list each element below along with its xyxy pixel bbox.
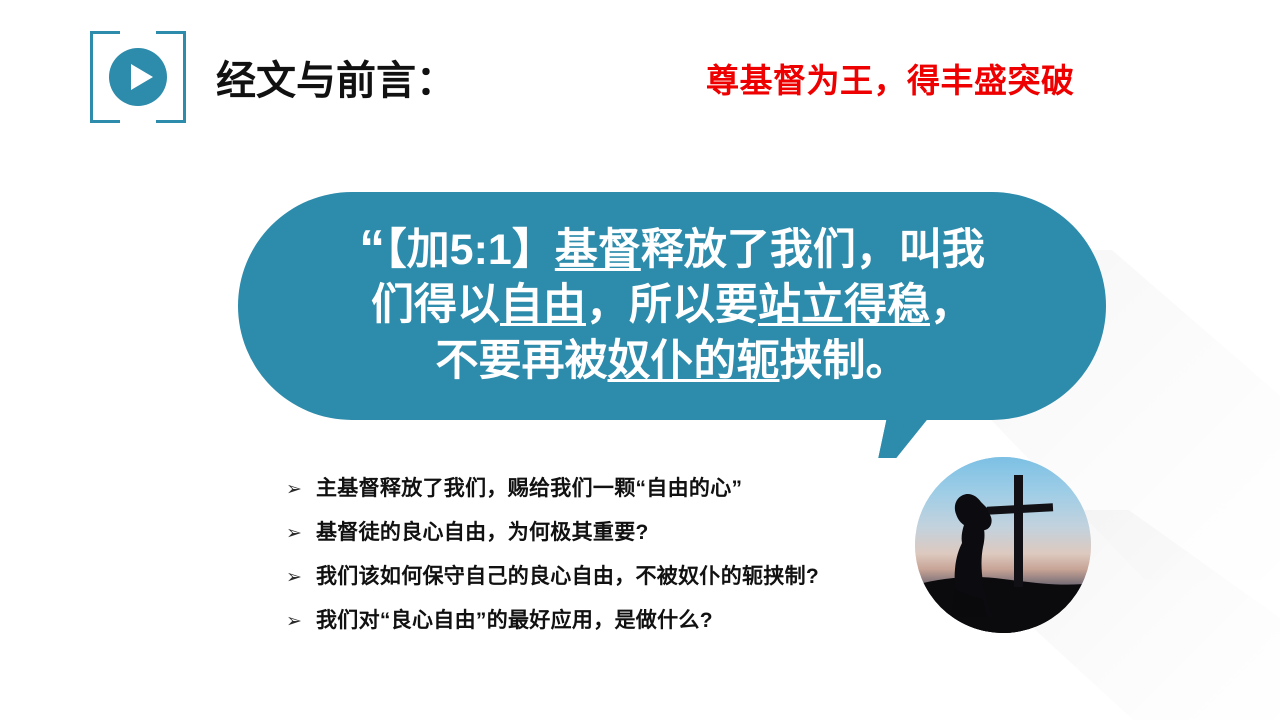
list-item: ➢ 我们该如何保守自己的良心自由，不被奴仆的轭挟制? <box>286 560 906 604</box>
list-item-label: 主基督释放了我们，赐给我们一颗“自由的心” <box>316 472 742 502</box>
bracket-frame-right-edge <box>183 31 186 123</box>
quote-line1-rest: 释放了我们，叫我 <box>641 226 985 274</box>
open-quote-icon: “ <box>359 220 381 278</box>
arrow-bullet-icon: ➢ <box>286 612 316 631</box>
praying-person-with-cross-photo <box>915 457 1091 633</box>
list-item: ➢ 基督徒的良心自由，为何极其重要? <box>286 516 906 560</box>
bracket-frame-top-left <box>90 31 120 34</box>
bracket-frame-bottom-left <box>90 120 120 123</box>
slide-canvas: 经文与前言： 尊基督为王，得丰盛突破 “【加5:1】基督释放了我们，叫我 们得以… <box>0 0 1280 720</box>
quote-line-3: 不要再被奴仆的轭挟制。 <box>359 334 985 389</box>
quote-emphasis-stand-firm: 站立得稳 <box>758 281 930 329</box>
header-subtitle: 尊基督为王，得丰盛突破 <box>706 54 1075 102</box>
list-item-label: 我们对“良心自由”的最好应用，是做什么? <box>316 604 713 634</box>
quote-line3-a: 不要再被 <box>436 337 608 385</box>
quote-line3-c: 挟制。 <box>780 337 909 385</box>
play-button-icon <box>90 31 186 123</box>
bullet-list: ➢ 主基督释放了我们，赐给我们一颗“自由的心” ➢ 基督徒的良心自由，为何极其重… <box>286 472 906 648</box>
play-triangle-icon <box>131 64 153 90</box>
page-title: 经文与前言： <box>216 48 456 106</box>
list-item: ➢ 主基督释放了我们，赐给我们一颗“自由的心” <box>286 472 906 516</box>
arrow-bullet-icon: ➢ <box>286 480 316 499</box>
quote-text-area: “【加5:1】基督释放了我们，叫我 们得以自由，所以要站立得稳， 不要再被奴仆的… <box>238 192 1106 420</box>
photo-artwork <box>915 457 1091 633</box>
quote-line2-c: ，所以要 <box>586 281 758 329</box>
quote-line2-a: 们得以 <box>371 281 500 329</box>
bracket-frame-icon <box>90 31 93 123</box>
quote-lines: “【加5:1】基督释放了我们，叫我 们得以自由，所以要站立得稳， 不要再被奴仆的… <box>359 223 985 388</box>
list-item: ➢ 我们对“良心自由”的最好应用，是做什么? <box>286 604 906 648</box>
arrow-bullet-icon: ➢ <box>286 524 316 543</box>
quote-line-1: “【加5:1】基督释放了我们，叫我 <box>359 223 985 278</box>
arrow-bullet-icon: ➢ <box>286 568 316 587</box>
quote-line2-e: ， <box>930 281 973 329</box>
quote-emphasis-yoke: 奴仆的轭 <box>608 337 780 385</box>
quote-emphasis-christ: 基督 <box>555 226 641 274</box>
bracket-frame-bottom-right <box>156 120 186 123</box>
list-item-label: 我们该如何保守自己的良心自由，不被奴仆的轭挟制? <box>316 560 819 590</box>
quote-line-2: 们得以自由，所以要站立得稳， <box>359 278 985 333</box>
quote-ref: 【加5:1】 <box>385 226 555 274</box>
bracket-frame-top-right <box>156 31 186 34</box>
quote-bubble: “【加5:1】基督释放了我们，叫我 们得以自由，所以要站立得稳， 不要再被奴仆的… <box>238 192 1106 420</box>
play-circle-icon <box>109 48 167 106</box>
list-item-label: 基督徒的良心自由，为何极其重要? <box>316 516 649 546</box>
quote-bubble-tail <box>878 414 931 458</box>
slide-header: 经文与前言： 尊基督为王，得丰盛突破 <box>0 0 1280 150</box>
quote-emphasis-freedom: 自由 <box>500 281 586 329</box>
